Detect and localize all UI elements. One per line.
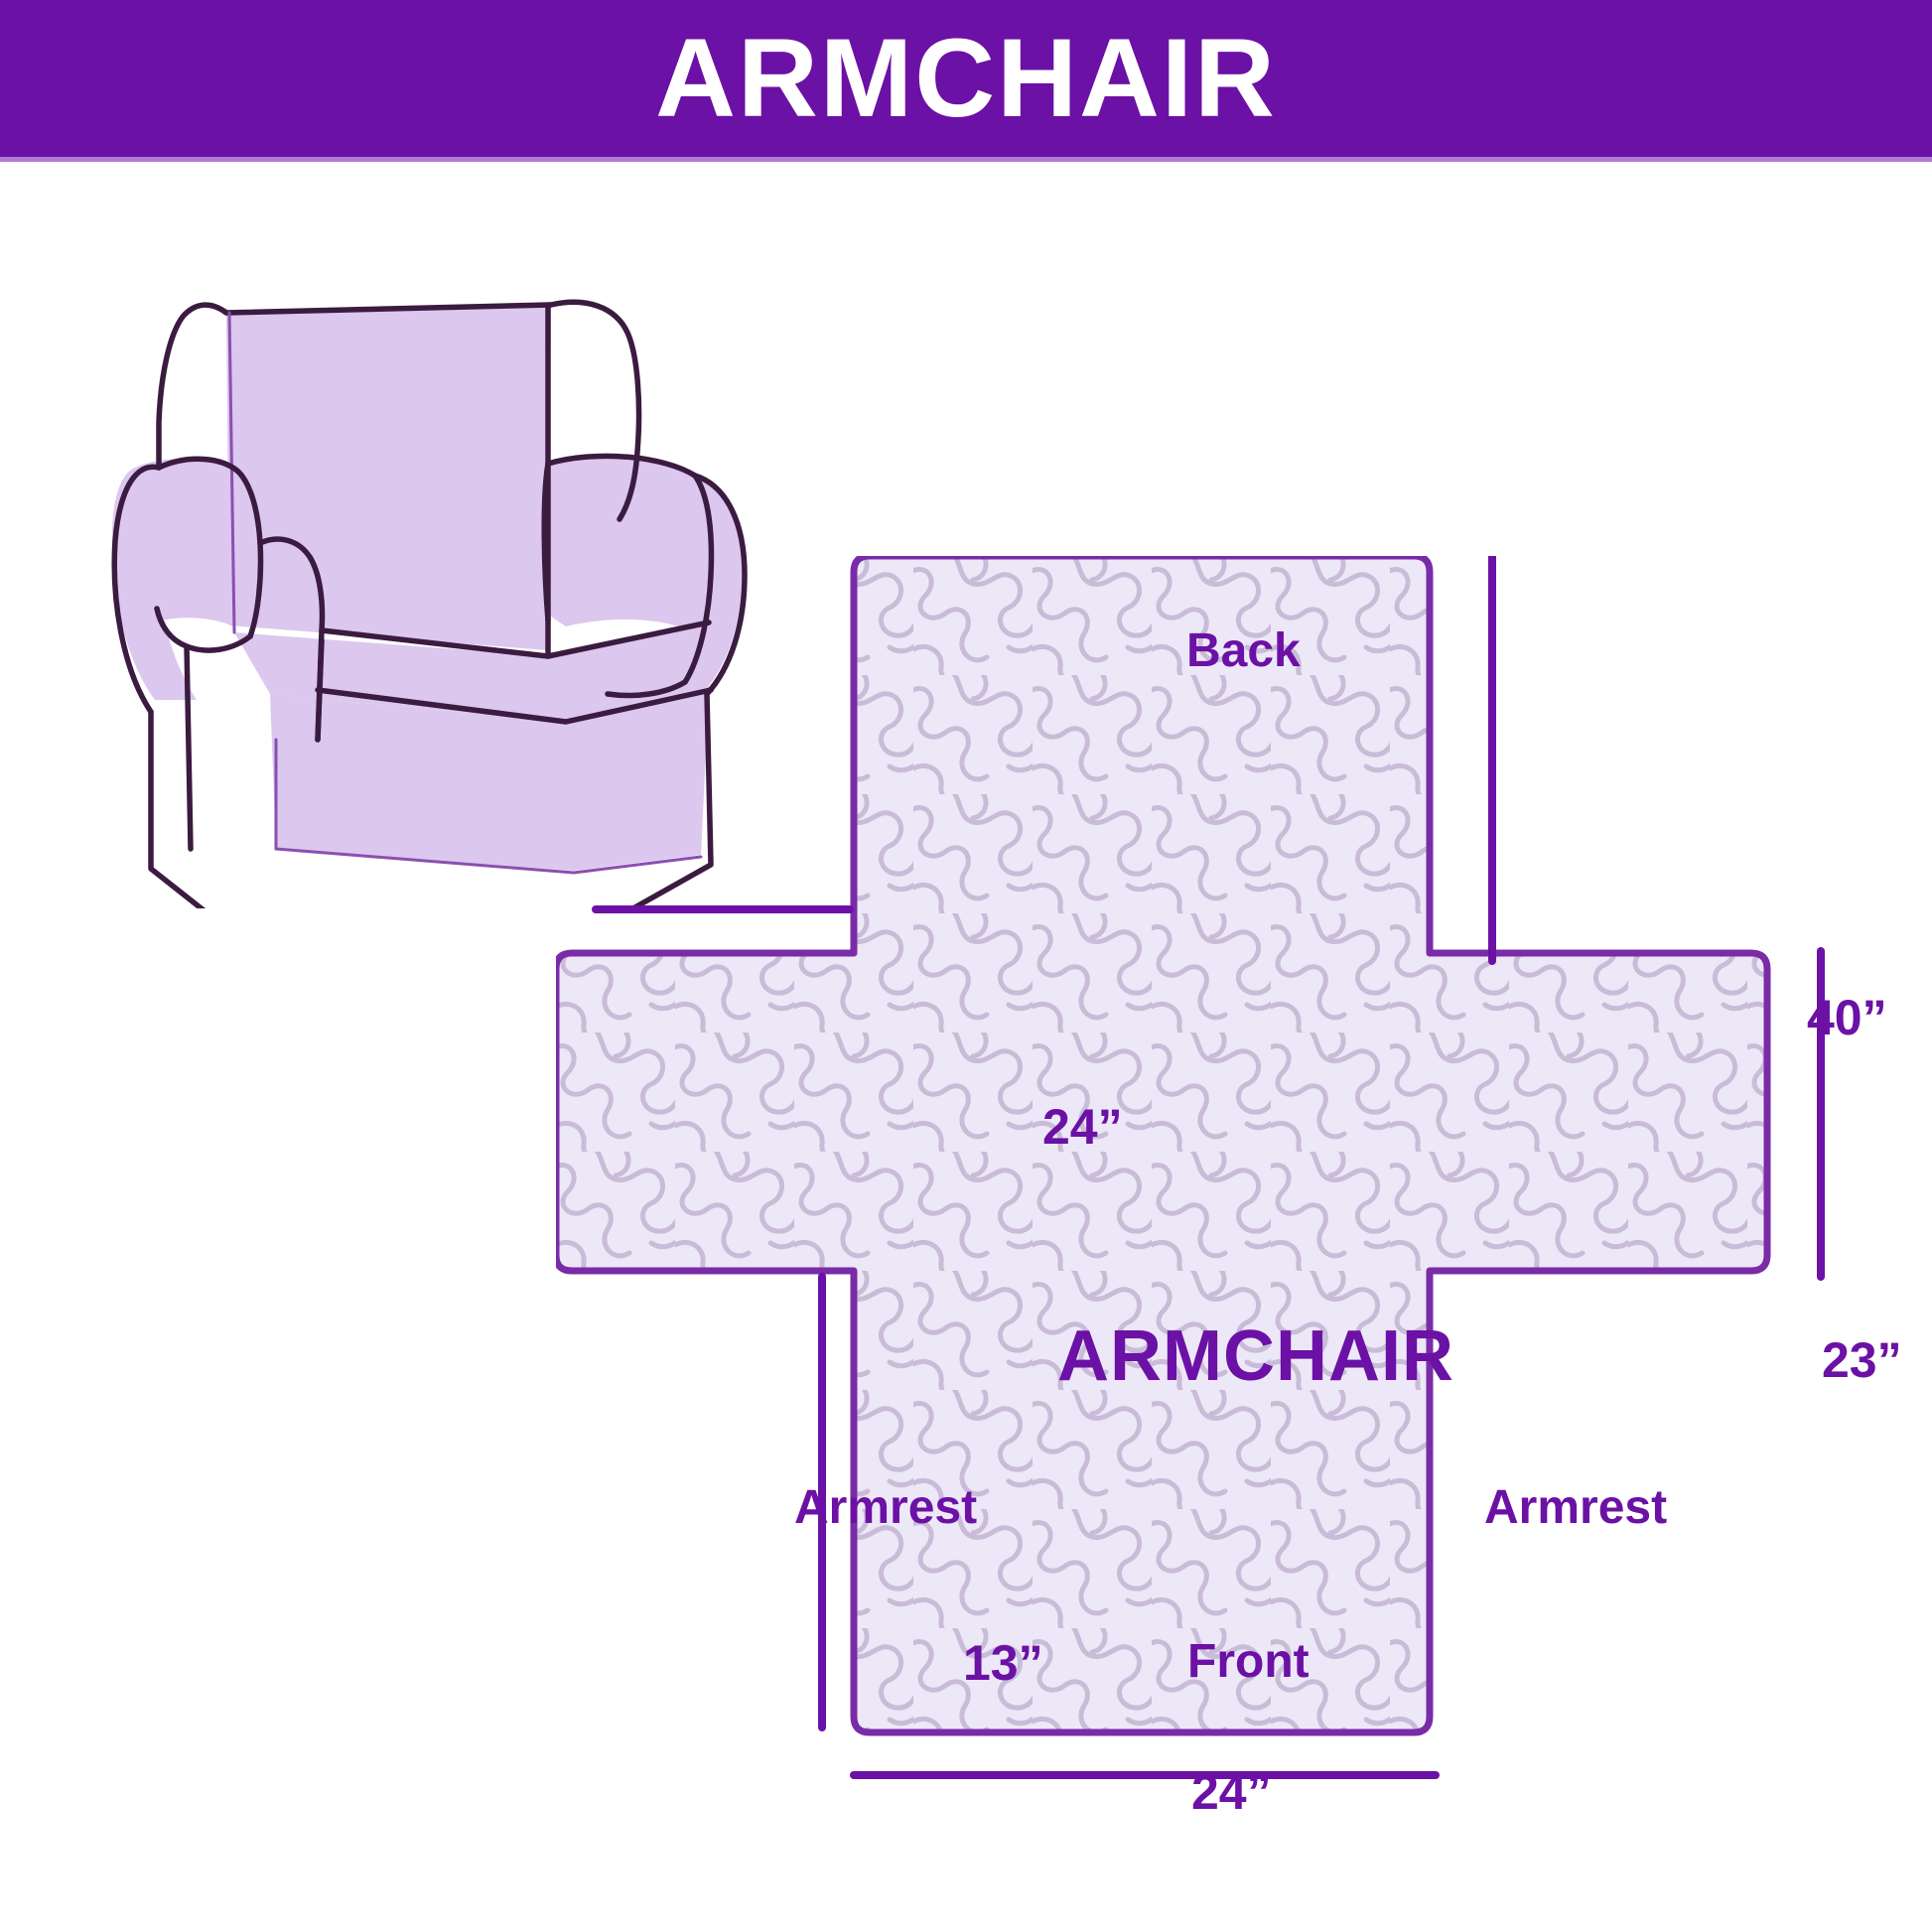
header-underline-divider [0,157,1932,162]
product-dimension-infographic: ARMCHAIR .ol { fill:none; stroke:#3B1B3F… [0,0,1932,1932]
dimension-label-back-width: 24” [1042,1102,1123,1152]
diagram-center-label: ARMCHAIR [1057,1320,1454,1392]
page-title: ARMCHAIR [0,0,1932,157]
dimension-label-armrest-depth: 23” [1822,1335,1902,1385]
chair-left-panel-seam [187,646,191,849]
cover-cross-shape [556,556,1767,1732]
dimension-label-front-depth: 13” [963,1638,1043,1688]
chair-back-cover-fill [226,305,551,650]
panel-label-armrest-left: Armrest [794,1484,977,1532]
chair-left-arm-top-cover-fill [129,459,234,628]
dimension-label-back-height: 40” [1807,993,1887,1042]
dimension-label-front-width: 24” [1191,1767,1272,1817]
panel-label-back: Back [1186,627,1301,675]
chair-backrest-left-outline [159,305,226,468]
panel-label-armrest-right: Armrest [1484,1484,1667,1532]
panel-label-front: Front [1187,1638,1310,1686]
